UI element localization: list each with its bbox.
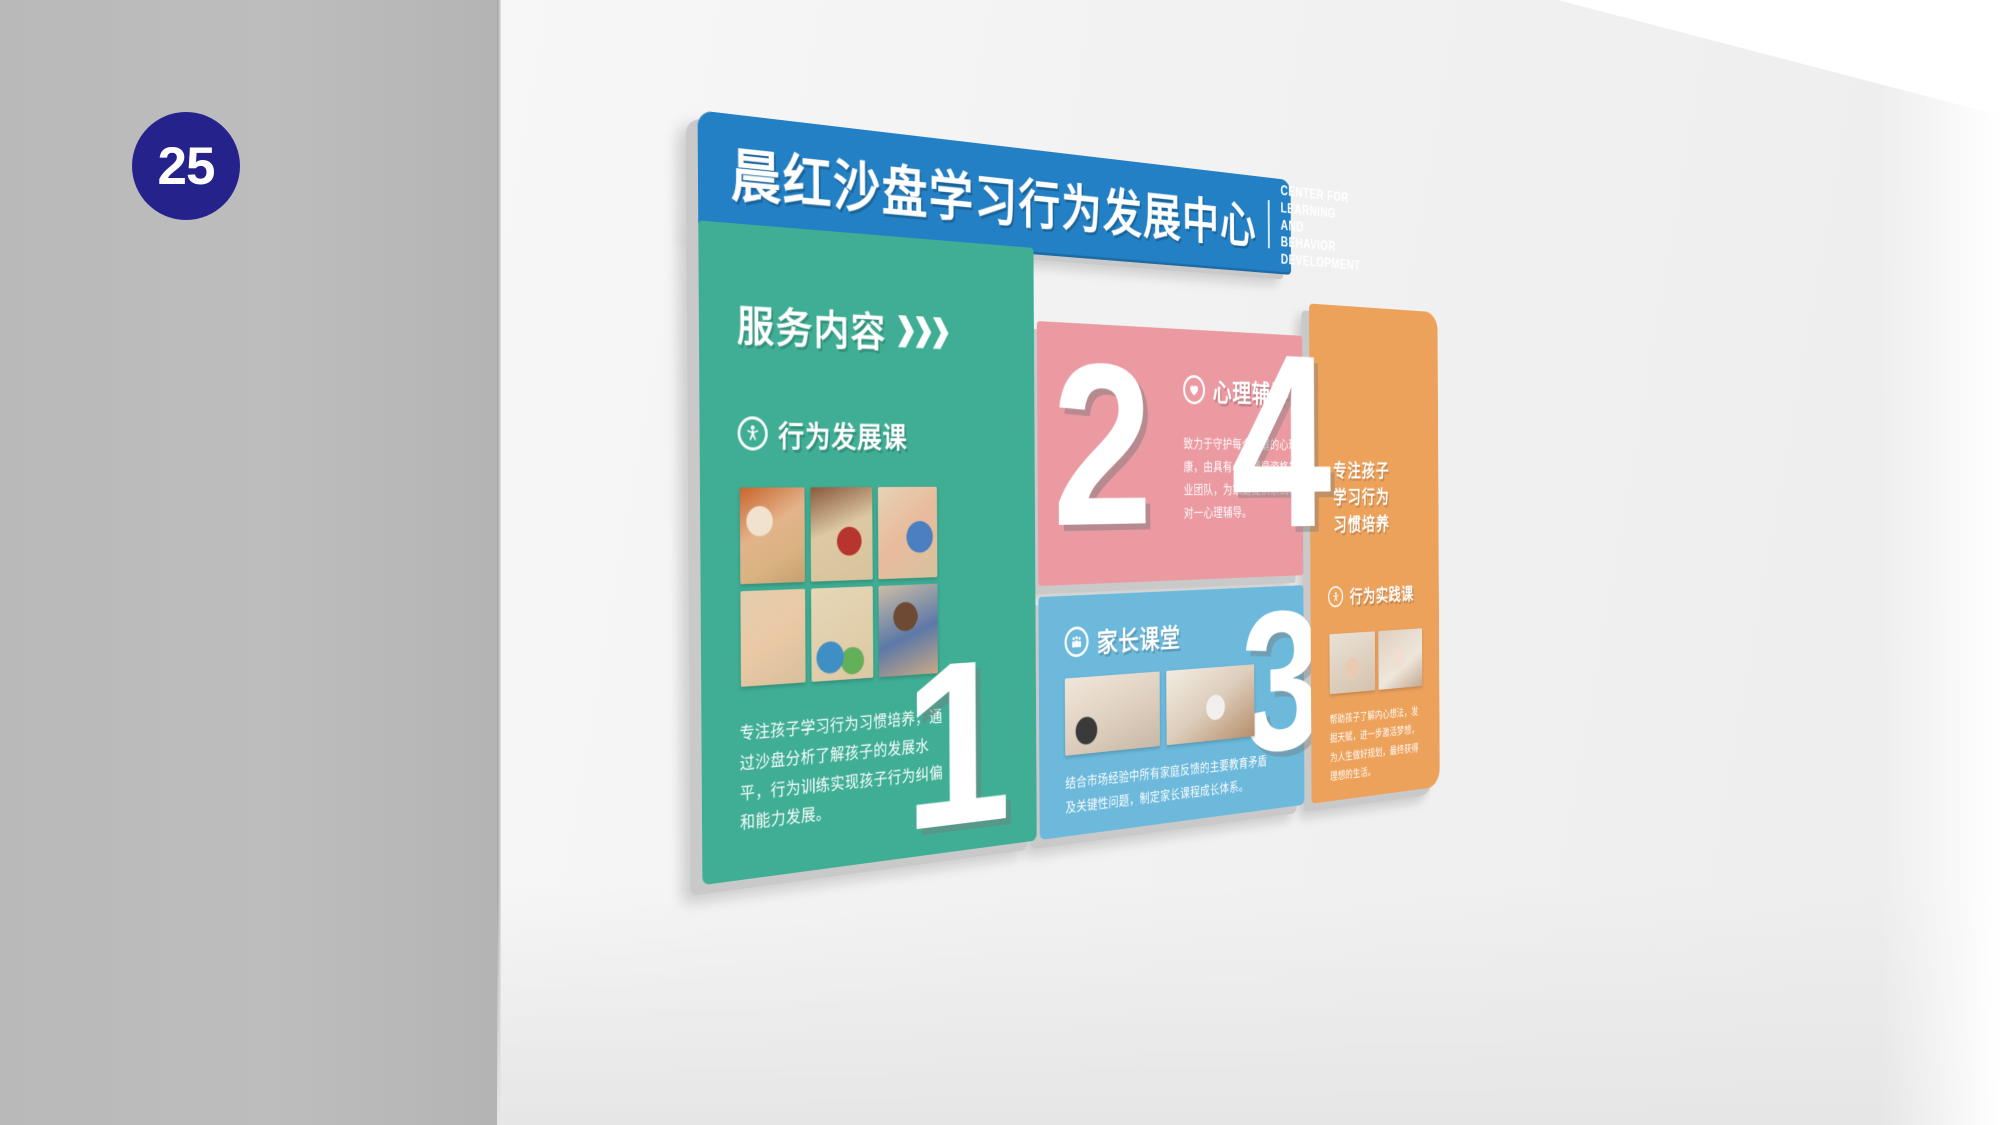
person-icon <box>738 416 768 450</box>
panel-parent-classroom: 3 家长课堂 结合市场经验中所有家庭反馈的主要教育矛盾及关键性问题，制定家长课程… <box>1038 585 1304 840</box>
orange-panel-body-text: 帮助孩子了解内心想法，发掘天赋，进一步激活梦想，为人生做好规划，最终获得理想的生… <box>1330 701 1424 786</box>
orange-section-title: 行为实践课 <box>1350 580 1414 609</box>
wall-left-surface <box>0 0 497 1125</box>
services-heading-group: 服务内容 <box>737 292 949 362</box>
panel-number-2: 2 <box>1051 327 1152 562</box>
right-wall-highlight <box>1880 0 2000 1125</box>
services-heading-label: 服务内容 <box>737 292 887 359</box>
photo-sandplay-4 <box>740 588 805 687</box>
photo-sandplay-2 <box>810 487 872 581</box>
signage-title-english: CENTER FOR LEARNING AND BEHAVIOR DEVELOP… <box>1280 182 1360 274</box>
orange-section-header: 行为实践课 <box>1328 580 1414 610</box>
blue-section-title: 家长课堂 <box>1097 616 1181 660</box>
green-photo-grid <box>740 487 938 687</box>
family-icon <box>1064 626 1088 658</box>
person-icon <box>1328 586 1343 608</box>
green-section-title: 行为发展课 <box>778 412 907 457</box>
photo-sandplay-5 <box>811 586 873 682</box>
panel-behavior-development: 服务内容 行为发展课 专注孩子学习行为习惯培养，通过沙盘分析了解孩子的发展水平，… <box>698 220 1037 885</box>
panel-number-4: 4 <box>1230 313 1332 566</box>
heart-icon <box>1183 375 1205 405</box>
slide-number-label: 25 <box>158 136 215 197</box>
photo-sandplay-3 <box>878 487 938 579</box>
photo-sandplay-6 <box>878 583 937 677</box>
orange-photo-row <box>1329 628 1422 694</box>
photo-family-2 <box>1166 664 1254 745</box>
photo-family-1 <box>1065 671 1160 755</box>
green-section-header: 行为发展课 <box>737 411 907 456</box>
slide-number-badge: 25 <box>132 112 240 220</box>
floor-shading <box>497 885 2000 1125</box>
panel-behavior-practice: 4 专注孩子 学习行为 习惯培养 行为实践课 帮助孩子了解内心想法，发掘天赋，进… <box>1309 303 1440 803</box>
photo-practice-2 <box>1378 628 1422 690</box>
wall-signage-assembly: 晨红沙盘学习行为发展中心 CENTER FOR LEARNING AND BEH… <box>698 110 1375 885</box>
photo-practice-1 <box>1329 631 1375 694</box>
title-divider <box>1268 200 1270 248</box>
photo-sandplay-1 <box>740 487 805 583</box>
chevron-right-icon <box>898 315 949 350</box>
blue-section-header: 家长课堂 <box>1064 616 1180 662</box>
orange-panel-tagline: 专注孩子 学习行为 习惯培养 <box>1333 457 1390 538</box>
